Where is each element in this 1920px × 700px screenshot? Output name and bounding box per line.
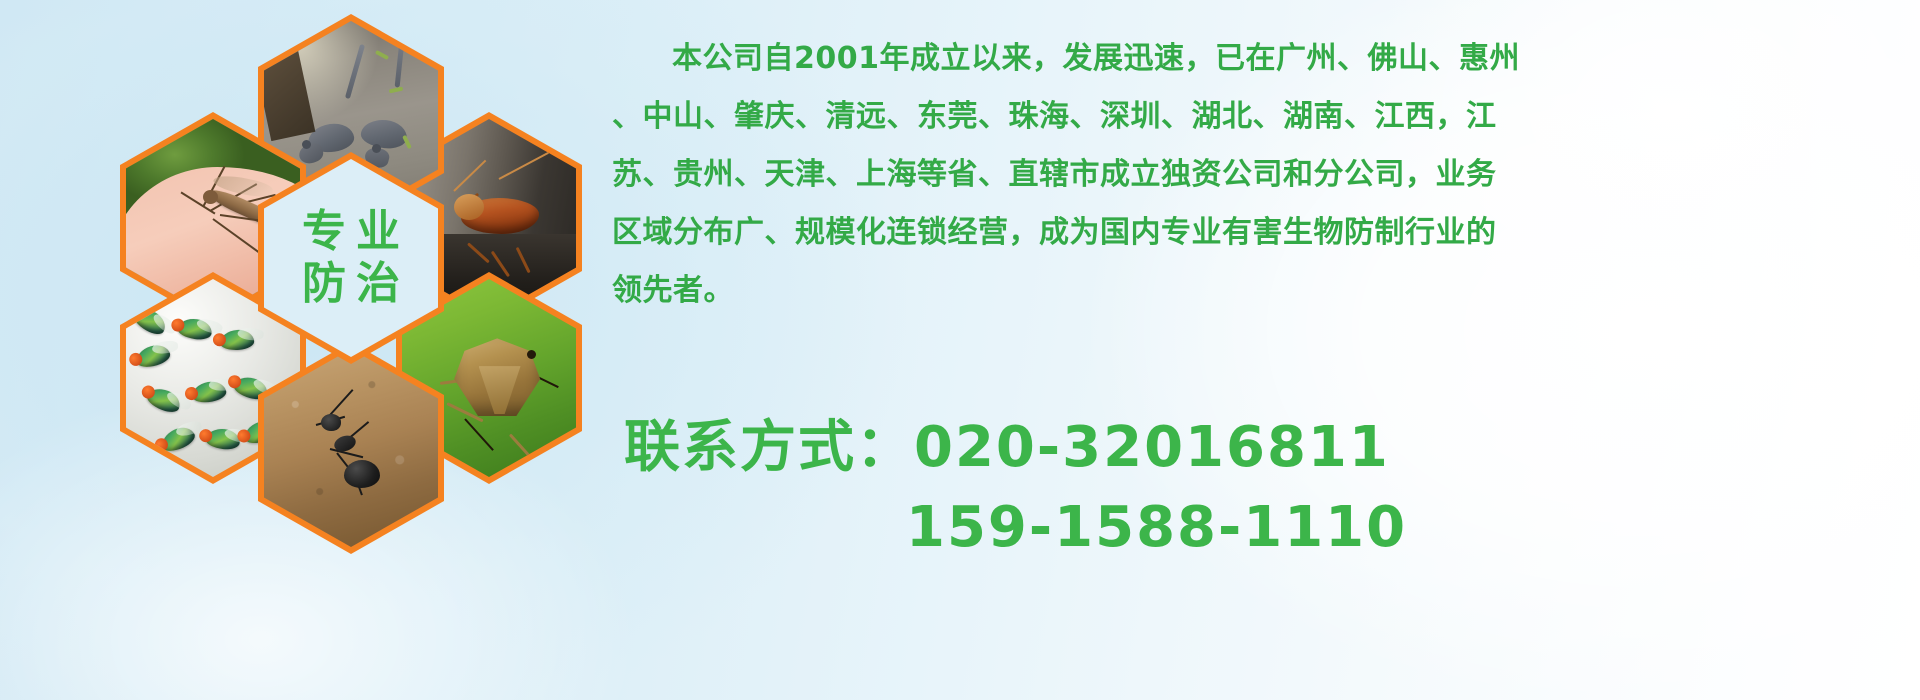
stinkbug-leg-icon bbox=[509, 434, 535, 463]
fly-icon bbox=[134, 342, 172, 371]
ant-antenna-icon bbox=[329, 389, 353, 416]
fly-icon bbox=[205, 428, 241, 451]
cockroach-antenna-icon bbox=[453, 160, 486, 192]
ant-head-icon bbox=[321, 414, 341, 431]
grass-speck bbox=[375, 50, 389, 60]
rat-body-icon bbox=[360, 118, 409, 151]
contact-phone-primary[interactable]: 联系方式：020-32016811 bbox=[624, 408, 1904, 488]
description-line: 本公司自2001年成立以来，发展迅速，已在广州、佛山、惠州 bbox=[612, 30, 1902, 88]
rat-tail-icon bbox=[394, 31, 405, 87]
fly-icon bbox=[177, 316, 213, 341]
stinkbug-eye-icon bbox=[527, 350, 536, 359]
slogan-text: 专业 防治 bbox=[264, 159, 438, 357]
mosquito-leg-icon bbox=[212, 218, 260, 254]
cockroach-antenna-icon bbox=[499, 152, 549, 180]
description-line: 区域分布广、规模化连锁经营，成为国内专业有害生物防制行业的 bbox=[612, 204, 1902, 262]
description-line: 苏、贵州、天津、上海等省、直辖市成立独资公司和分公司，业务 bbox=[612, 146, 1902, 204]
fly-icon bbox=[158, 423, 197, 455]
fly-icon bbox=[191, 379, 228, 405]
stinkbug-antenna-icon bbox=[464, 418, 494, 451]
rat-ear-icon bbox=[372, 144, 381, 153]
description-line: 领先者。 bbox=[612, 262, 1902, 320]
cockroach-leg-icon bbox=[467, 242, 490, 263]
cockroach-leg-icon bbox=[491, 250, 510, 277]
mosquito-head-icon bbox=[203, 190, 218, 204]
fly-icon bbox=[219, 329, 254, 351]
hexagon-photo-cluster: 专业 防治 bbox=[88, 0, 588, 564]
rat-tail-icon bbox=[345, 43, 365, 98]
ant-photo-art bbox=[264, 349, 438, 547]
cockroach-leg-icon bbox=[515, 247, 530, 273]
promo-banner: 专业 防治 本公司自2001年成立以来，发展迅速，已在广州、佛山、惠州 、中山、… bbox=[0, 0, 1920, 700]
contact-phone-secondary[interactable]: 159-1588-1110 bbox=[624, 488, 1904, 568]
rat-ear-icon bbox=[302, 140, 311, 149]
company-description: 本公司自2001年成立以来，发展迅速，已在广州、佛山、惠州 、中山、肇庆、清远、… bbox=[612, 30, 1902, 320]
slogan-line-1: 专业 bbox=[292, 209, 410, 255]
description-line: 、中山、肇庆、清远、东莞、珠海、深圳、湖北、湖南、江西，江 bbox=[612, 88, 1902, 146]
grass-speck bbox=[389, 87, 404, 94]
contact-info: 联系方式：020-32016811 159-1588-1110 bbox=[624, 408, 1904, 568]
ant-abdomen-icon bbox=[344, 460, 380, 488]
fly-icon bbox=[144, 384, 183, 415]
fly-icon bbox=[130, 304, 169, 338]
slogan-line-2: 防治 bbox=[292, 261, 410, 307]
